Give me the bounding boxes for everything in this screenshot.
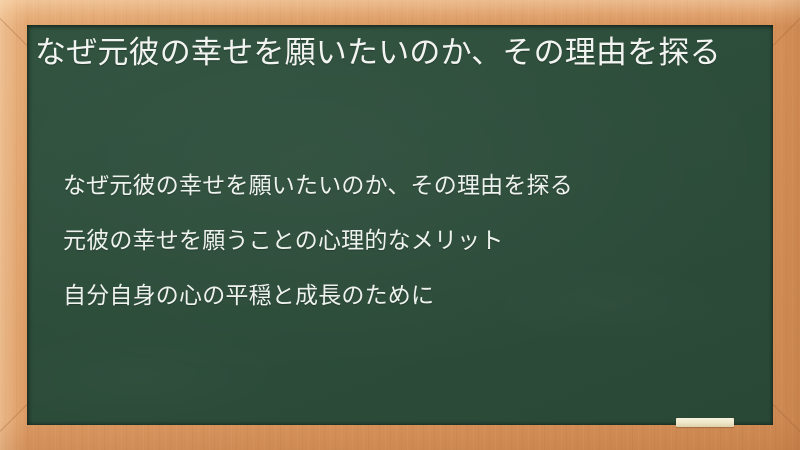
page-title: なぜ元彼の幸せを願いたいのか、その理由を探る: [35, 31, 747, 76]
toc-item-3[interactable]: 自分自身の心の平穏と成長のために: [63, 283, 753, 310]
toc-item-label: 自分自身の心の平穏と成長のために: [63, 283, 434, 309]
toc-item-label: なぜ元彼の幸せを願いたいのか、その理由を探る: [63, 173, 573, 199]
chalk-stick: [676, 418, 734, 427]
frame-left-highlight: [0, 0, 28, 450]
table-of-contents: なぜ元彼の幸せを願いたいのか、その理由を探る 元彼の幸せを願うことの心理的なメリ…: [63, 173, 753, 338]
frame-mitre-top-right: [769, 16, 800, 49]
chalkboard-surface: なぜ元彼の幸せを願いたいのか、その理由を探る なぜ元彼の幸せを願いたいのか、その…: [27, 25, 773, 425]
chalkboard-content: なぜ元彼の幸せを願いたいのか、その理由を探る なぜ元彼の幸せを願いたいのか、その…: [27, 25, 773, 425]
toc-item-label: 元彼の幸せを願うことの心理的なメリット: [63, 228, 504, 254]
frame-mitre-bottom-right: [769, 401, 800, 434]
slide-canvas: なぜ元彼の幸せを願いたいのか、その理由を探る なぜ元彼の幸せを願いたいのか、その…: [0, 0, 800, 450]
toc-item-1[interactable]: なぜ元彼の幸せを願いたいのか、その理由を探る: [63, 173, 753, 200]
frame-top-highlight: [0, 0, 800, 26]
toc-item-2[interactable]: 元彼の幸せを願うことの心理的なメリット: [63, 228, 753, 255]
